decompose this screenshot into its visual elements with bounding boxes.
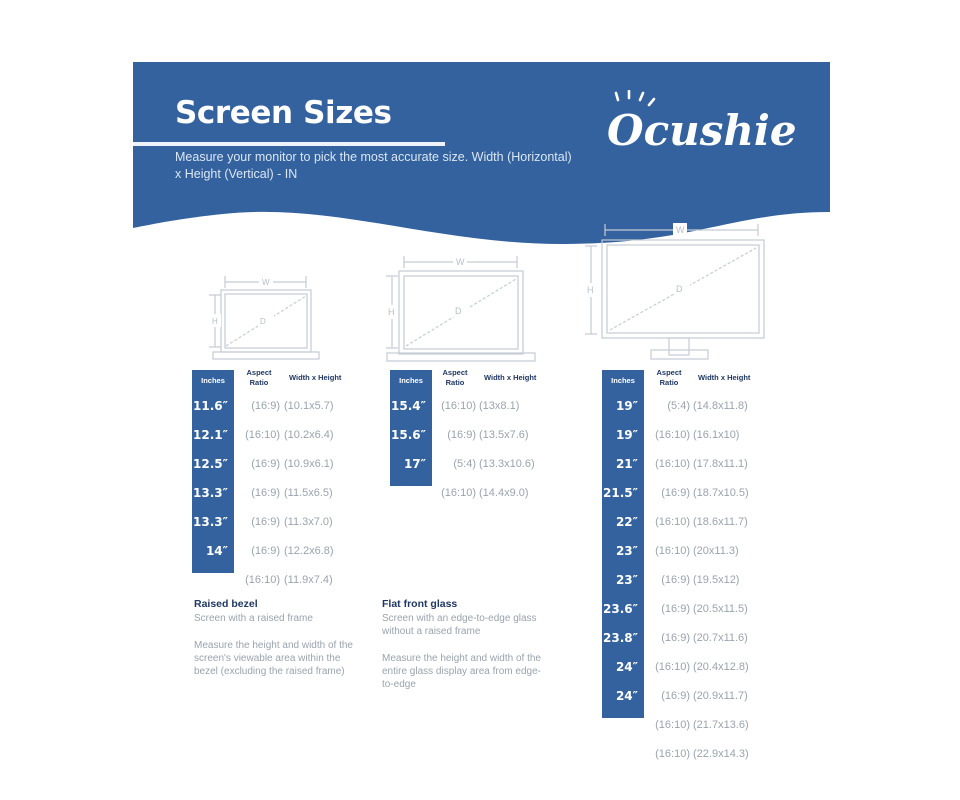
cell-inches: 19″ xyxy=(602,421,644,450)
cell-size: (13x8.1) xyxy=(479,392,519,421)
cell-aspect: (16:10) xyxy=(430,479,476,508)
cell-size: (22.9x14.3) xyxy=(693,740,749,769)
table-row: 23.8″ (16:9) (20.7x11.6) xyxy=(602,624,772,653)
cell-size: (11.3x7.0) xyxy=(284,508,333,537)
table-row: 19″ (5:4) (14.8x11.8) xyxy=(602,392,772,421)
table-body: 19″ (5:4) (14.8x11.8) 19″ (16:10) (16.1x… xyxy=(602,392,772,769)
screen-size-table-3: Inches Aspect Ratio Width x Height 19″ (… xyxy=(602,370,772,392)
note-raised-bezel: Raised bezel Screen with a raised frame … xyxy=(194,598,364,678)
table-row: 23″ (16:9) (19.5x12) xyxy=(602,566,772,595)
cell-aspect: (16:9) xyxy=(234,479,280,508)
table-header-row: Inches Aspect Ratio Width x Height xyxy=(390,370,550,392)
cell-size: (16.1x10) xyxy=(693,421,739,450)
aspect-header-line1: Aspect xyxy=(236,368,282,378)
screen-size-table-1: Inches Aspect Ratio Width x Height 11.6″… xyxy=(192,370,352,392)
table-row: 19″ (16:10) (16.1x10) xyxy=(602,421,772,450)
diagram3-diagonal-label: D xyxy=(676,284,683,294)
cell-size: (17.8x11.1) xyxy=(693,450,748,479)
cell-aspect: (16:9) xyxy=(644,624,690,653)
table-row: 14″ (16:9) (12.2x6.8) xyxy=(192,537,352,566)
note-body: Measure the height and width of the enti… xyxy=(382,652,552,691)
cell-aspect: (16:10) xyxy=(644,537,690,566)
cell-size: (21.7x13.6) xyxy=(693,711,749,740)
cell-size: (13.5x7.6) xyxy=(479,421,529,450)
table-row: 21.5″ (16:9) (18.7x10.5) xyxy=(602,479,772,508)
cell-inches: 12.1″ xyxy=(192,421,234,450)
diagram2-height-label: H xyxy=(388,307,395,317)
table-row: 15.6″ (16:9) (13.5x7.6) xyxy=(390,421,550,450)
diagram1-width-label: W xyxy=(262,278,270,287)
cell-aspect: (16:9) xyxy=(234,537,280,566)
cell-aspect: (16:10) xyxy=(644,450,690,479)
cell-size: (13.3x10.6) xyxy=(479,450,535,479)
table-row: 22″ (16:10) (18.6x11.7) xyxy=(602,508,772,537)
cell-inches: 22″ xyxy=(602,508,644,537)
cell-inches: 23″ xyxy=(602,566,644,595)
column-header-inches: Inches xyxy=(602,370,644,392)
aspect-header-line2: Ratio xyxy=(432,378,478,388)
cell-size: (14.4x9.0) xyxy=(479,479,529,508)
cell-aspect: (16:10) xyxy=(644,740,690,769)
cell-aspect: (16:10) xyxy=(644,508,690,537)
table-body: 11.6″ (16:9) (10.1x5.7) 12.1″ (16:10) (1… xyxy=(192,392,352,595)
cell-aspect: (16:9) xyxy=(430,421,476,450)
table-row: 23.6″ (16:9) (20.5x11.5) xyxy=(602,595,772,624)
page-title: Screen Sizes xyxy=(175,95,392,131)
column-header-width-height: Width x Height xyxy=(698,373,750,382)
cell-inches: 19″ xyxy=(602,392,644,421)
sun-rays-icon xyxy=(616,91,654,105)
cell-aspect: (16:9) xyxy=(644,566,690,595)
cell-aspect: (16:10) xyxy=(234,566,280,595)
page-subtitle: Measure your monitor to pick the most ac… xyxy=(175,149,575,183)
ocushield-logo-mark: Ocushield xyxy=(607,90,797,160)
cell-size: (18.6x11.7) xyxy=(693,508,748,537)
logo-wordmark: Ocushield xyxy=(607,106,797,155)
title-divider-rule xyxy=(133,142,445,146)
infographic-canvas: Screen Sizes Measure your monitor to pic… xyxy=(0,0,960,800)
cell-aspect: (16:10) xyxy=(644,421,690,450)
cell-aspect: (5:4) xyxy=(430,450,476,479)
cell-inches: 14″ xyxy=(192,537,234,566)
cell-inches: 17″ xyxy=(390,479,432,508)
cell-aspect: (16:10) xyxy=(234,421,280,450)
table-row: 11.6″ (16:9) (10.1x5.7) xyxy=(192,392,352,421)
monitor-stand-neck xyxy=(669,338,689,355)
cell-inches: 14.1″ xyxy=(192,566,234,595)
cell-aspect: (16:9) xyxy=(644,479,690,508)
aspect-header-line2: Ratio xyxy=(646,378,692,388)
table-header-row: Inches Aspect Ratio Width x Height xyxy=(602,370,772,392)
cell-size: (12.2x6.8) xyxy=(284,537,334,566)
cell-size: (20.7x11.6) xyxy=(693,624,748,653)
cell-size: (10.1x5.7) xyxy=(284,392,334,421)
cell-inches: 11.6″ xyxy=(192,392,234,421)
table-row: 17″ (16:10) (14.4x9.0) xyxy=(390,479,550,508)
cell-size: (10.2x6.4) xyxy=(284,421,334,450)
cell-inches: 12.5″ xyxy=(192,450,234,479)
cell-inches: 21.5″ xyxy=(602,479,644,508)
cell-inches: 24″ xyxy=(602,682,644,711)
table-row: 13.3″ (16:9) (11.3x7.0) xyxy=(192,508,352,537)
table-row: 17″ (5:4) (13.3x10.6) xyxy=(390,450,550,479)
cell-inches: 26″ xyxy=(602,711,644,740)
column-header-width-height: Width x Height xyxy=(289,373,341,382)
cell-inches: 15.4″ xyxy=(390,392,432,421)
column-header-aspect-ratio: Aspect Ratio xyxy=(432,368,478,387)
table-row: 13.3″ (16:9) (11.5x6.5) xyxy=(192,479,352,508)
aspect-header-line1: Aspect xyxy=(432,368,478,378)
table-header-row: Inches Aspect Ratio Width x Height xyxy=(192,370,352,392)
note-flat-front-glass: Flat front glass Screen with an edge-to-… xyxy=(382,598,552,691)
diagram3-height-label: H xyxy=(587,285,594,295)
aspect-header-line1: Aspect xyxy=(646,368,692,378)
cell-inches: 13.3″ xyxy=(192,479,234,508)
table-row: 12.1″ (16:10) (10.2x6.4) xyxy=(192,421,352,450)
cell-size: (20x11.3) xyxy=(693,537,739,566)
diagram2-diagonal-label: D xyxy=(455,306,462,316)
table-row: 21″ (16:10) (17.8x11.1) xyxy=(602,450,772,479)
diagram3-width-label: W xyxy=(676,225,685,235)
laptop-base xyxy=(213,352,319,359)
note-title: Raised bezel xyxy=(194,598,364,610)
cell-inches: 24″ xyxy=(602,653,644,682)
cell-aspect: (16:10) xyxy=(644,711,690,740)
cell-aspect: (16:10) xyxy=(644,653,690,682)
column-header-inches: Inches xyxy=(390,370,432,392)
cell-size: (20.9x11.7) xyxy=(693,682,748,711)
table-row: 14.1″ (16:10) (11.9x7.4) xyxy=(192,566,352,595)
cell-size: (10.9x6.1) xyxy=(284,450,334,479)
cell-inches: 23″ xyxy=(602,537,644,566)
note-body: Measure the height and width of the scre… xyxy=(194,639,364,678)
cell-size: (19.5x12) xyxy=(693,566,739,595)
cell-size: (20.5x11.5) xyxy=(693,595,748,624)
cell-inches: 13.3″ xyxy=(192,508,234,537)
note-subtitle: Screen with a raised frame xyxy=(194,612,364,625)
cell-inches: 27″ xyxy=(602,740,644,769)
table-row: 15.4″ (16:10) (13x8.1) xyxy=(390,392,550,421)
screen-size-table-2: Inches Aspect Ratio Width x Height 15.4″… xyxy=(390,370,550,392)
cell-aspect: (16:10) xyxy=(430,392,476,421)
cell-aspect: (16:9) xyxy=(234,450,280,479)
cell-size: (20.4x12.8) xyxy=(693,653,749,682)
cell-inches: 23.8″ xyxy=(602,624,644,653)
cell-inches: 23.6″ xyxy=(602,595,644,624)
aspect-header-line2: Ratio xyxy=(236,378,282,388)
width-label: D xyxy=(260,317,266,326)
column-header-width-height: Width x Height xyxy=(484,373,536,382)
column-header-aspect-ratio: Aspect Ratio xyxy=(646,368,692,387)
cell-aspect: (16:9) xyxy=(644,595,690,624)
cell-aspect: (5:4) xyxy=(644,392,690,421)
cell-size: (11.9x7.4) xyxy=(284,566,333,595)
table-row: 26″ (16:10) (21.7x13.6) xyxy=(602,711,772,740)
diagram-laptop-small: D W H xyxy=(196,265,346,365)
table-row: 23″ (16:10) (20x11.3) xyxy=(602,537,772,566)
note-title: Flat front glass xyxy=(382,598,552,610)
cell-aspect: (16:9) xyxy=(234,508,280,537)
column-header-aspect-ratio: Aspect Ratio xyxy=(236,368,282,387)
table-row: 12.5″ (16:9) (10.9x6.1) xyxy=(192,450,352,479)
table-row: 24″ (16:10) (20.4x12.8) xyxy=(602,653,772,682)
cell-size: (11.5x6.5) xyxy=(284,479,333,508)
table-body: 15.4″ (16:10) (13x8.1) 15.6″ (16:9) (13.… xyxy=(390,392,550,508)
diagram1-height-label: H xyxy=(212,317,218,326)
cell-size: (18.7x10.5) xyxy=(693,479,749,508)
cell-inches: 15.6″ xyxy=(390,421,432,450)
table-row: 24″ (16:9) (20.9x11.7) xyxy=(602,682,772,711)
cell-inches: 17″ xyxy=(390,450,432,479)
ocushield-logo: Ocushield xyxy=(607,90,797,160)
table-row: 27″ (16:10) (22.9x14.3) xyxy=(602,740,772,769)
cell-size: (14.8x11.8) xyxy=(693,392,748,421)
cell-aspect: (16:9) xyxy=(644,682,690,711)
cell-inches: 21″ xyxy=(602,450,644,479)
note-subtitle: Screen with an edge-to-edge glass withou… xyxy=(382,612,552,638)
diagram-laptop-large: D W H xyxy=(377,251,552,366)
diagram-monitor: D W H xyxy=(572,217,782,367)
column-header-inches: Inches xyxy=(192,370,234,392)
cell-aspect: (16:9) xyxy=(234,392,280,421)
diagram2-width-label: W xyxy=(456,257,465,267)
